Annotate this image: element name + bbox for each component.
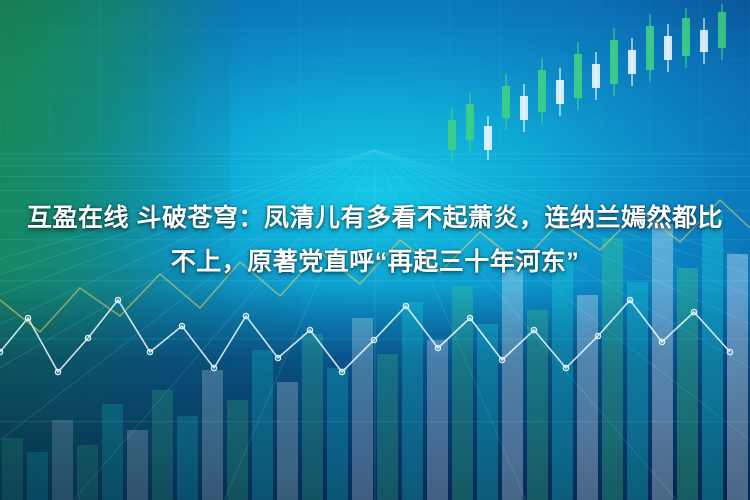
caption-line-1: 互盈在线 斗破苍穹：凤清儿有多看不起萧炎，连纳兰嫣然都比 <box>0 196 750 240</box>
caption-line-2: 不上，原著党直呼“再起三十年河东” <box>0 240 750 284</box>
caption-text-block: 互盈在线 斗破苍穹：凤清儿有多看不起萧炎，连纳兰嫣然都比 不上，原著党直呼“再起… <box>0 196 750 284</box>
banner-image: 互盈在线 斗破苍穹：凤清儿有多看不起萧炎，连纳兰嫣然都比 不上，原著党直呼“再起… <box>0 0 750 500</box>
